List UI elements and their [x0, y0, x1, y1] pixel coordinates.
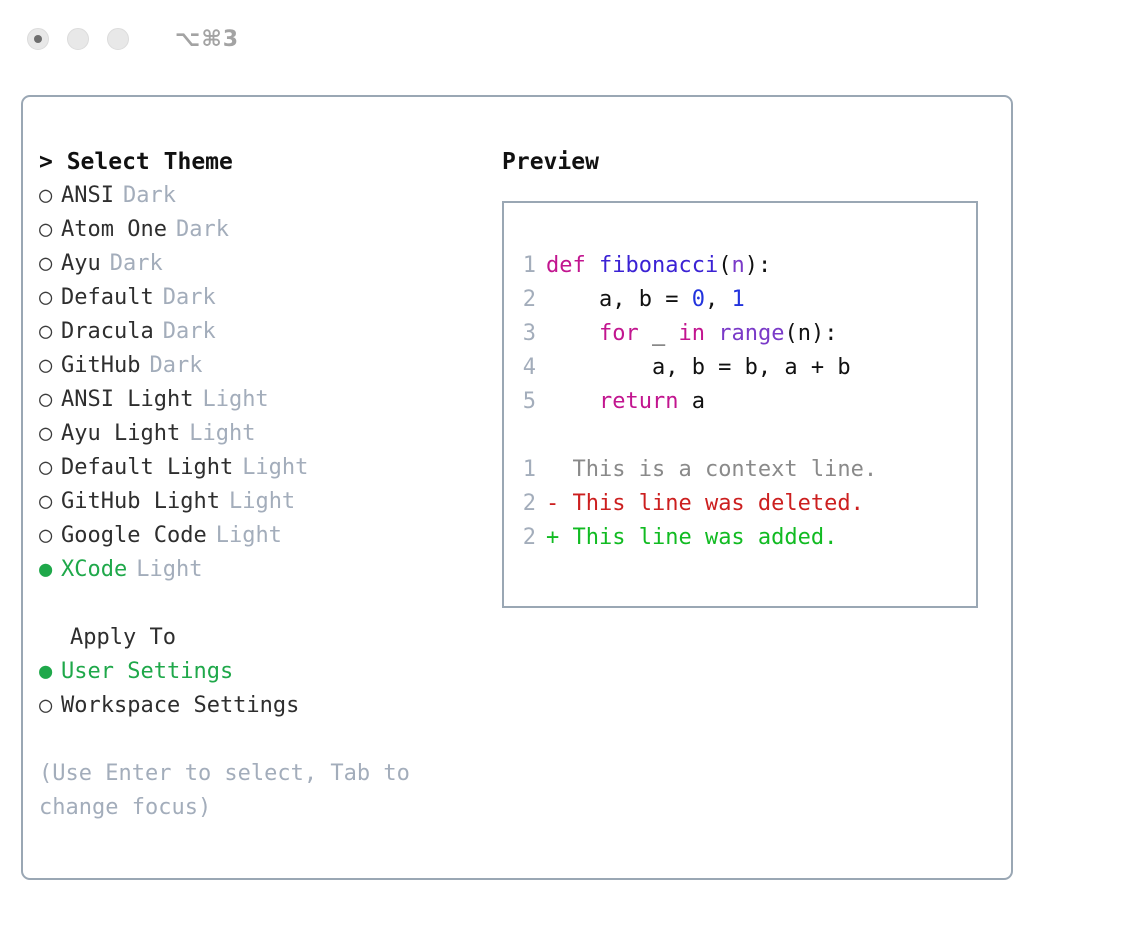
code-token: a, b =	[546, 287, 692, 312]
theme-name: Dracula	[61, 315, 154, 349]
apply-to-header: Apply To	[39, 621, 499, 655]
line-number: 1	[522, 453, 536, 487]
theme-name: GitHub Light	[61, 485, 220, 519]
code-token: a, b = b, a + b	[546, 355, 851, 380]
apply-to-options: ●User Settings○Workspace Settings	[39, 655, 499, 723]
code-line: 2 a, b = 0, 1	[522, 283, 877, 317]
code-token: (	[718, 253, 731, 278]
select-theme-header: > Select Theme	[39, 145, 499, 179]
theme-name: Ayu Light	[61, 417, 180, 451]
code-token: a	[678, 389, 705, 414]
theme-variant-label: Dark	[110, 247, 163, 281]
radio-unselected-icon: ○	[39, 689, 61, 723]
theme-list-item[interactable]: ○DefaultDark	[39, 281, 499, 315]
line-number: 1	[522, 249, 536, 283]
code-token: 1	[731, 287, 744, 312]
theme-name: Default	[61, 281, 154, 315]
theme-list-item[interactable]: ○Google CodeLight	[39, 519, 499, 553]
radio-unselected-icon: ○	[39, 485, 61, 519]
radio-unselected-icon: ○	[39, 349, 61, 383]
keyboard-hint-text: (Use Enter to select, Tab to change focu…	[39, 757, 459, 825]
code-diff-spacer	[522, 419, 877, 453]
theme-list-item[interactable]: ○Ayu LightLight	[39, 417, 499, 451]
radio-unselected-icon: ○	[39, 519, 61, 553]
diff-marker: +	[546, 525, 559, 550]
code-token: def	[546, 253, 586, 278]
theme-list-item[interactable]: ○Default LightLight	[39, 451, 499, 485]
radio-unselected-icon: ○	[39, 451, 61, 485]
apply-to-block: Apply To ●User Settings○Workspace Settin…	[39, 621, 499, 723]
radio-unselected-icon: ○	[39, 383, 61, 417]
theme-list-item[interactable]: ○DraculaDark	[39, 315, 499, 349]
recording-indicator-light[interactable]	[27, 28, 49, 50]
code-token: n	[731, 253, 744, 278]
theme-variant-label: Dark	[163, 281, 216, 315]
theme-variant-label: Dark	[123, 179, 176, 213]
code-token: (n):	[784, 321, 837, 346]
window-light-3[interactable]	[107, 28, 129, 50]
theme-list-item[interactable]: ●XCodeLight	[39, 553, 499, 587]
theme-list-item[interactable]: ○AyuDark	[39, 247, 499, 281]
code-line: 1def fibonacci(n):	[522, 249, 877, 283]
theme-variant-label: Light	[189, 417, 255, 451]
theme-name: XCode	[61, 553, 127, 587]
theme-variant-label: Dark	[163, 315, 216, 349]
theme-name: Google Code	[61, 519, 207, 553]
theme-variant-label: Light	[202, 383, 268, 417]
diff-line: 2- This line was deleted.	[522, 487, 877, 521]
radio-unselected-icon: ○	[39, 213, 61, 247]
theme-name: Default Light	[61, 451, 233, 485]
theme-variant-label: Light	[242, 451, 308, 485]
panel-columns: > Select Theme ○ANSIDark○Atom OneDark○Ay…	[23, 97, 1011, 878]
diff-line: 2+ This line was added.	[522, 521, 877, 555]
code-token: range	[718, 321, 784, 346]
theme-variant-label: Light	[229, 485, 295, 519]
line-number: 5	[522, 385, 536, 419]
diff-line: 1 This is a context line.	[522, 453, 877, 487]
theme-variant-label: Dark	[176, 213, 229, 247]
code-token: 0	[692, 287, 705, 312]
diff-marker	[546, 457, 559, 482]
theme-list-item[interactable]: ○ANSI LightLight	[39, 383, 499, 417]
radio-unselected-icon: ○	[39, 315, 61, 349]
code-token: ,	[705, 287, 732, 312]
radio-unselected-icon: ○	[39, 247, 61, 281]
diff-text: This line was added.	[559, 525, 837, 550]
code-token: ):	[745, 253, 772, 278]
code-line: 3 for _ in range(n):	[522, 317, 877, 351]
code-token	[546, 389, 599, 414]
window-titlebar: ⌥⌘3	[0, 0, 1140, 78]
line-number: 2	[522, 487, 536, 521]
preview-column: Preview 1def fibonacci(n):2 a, b = 0, 13…	[502, 145, 1002, 608]
code-token: in	[678, 321, 705, 346]
code-line: 5 return a	[522, 385, 877, 419]
theme-name: GitHub	[61, 349, 140, 383]
code-token: return	[599, 389, 678, 414]
code-line: 4 a, b = b, a + b	[522, 351, 877, 385]
diff-text: This is a context line.	[559, 457, 877, 482]
theme-variant-label: Light	[136, 553, 202, 587]
radio-selected-icon: ●	[39, 553, 61, 587]
line-number: 2	[522, 521, 536, 555]
line-number: 2	[522, 283, 536, 317]
theme-name: Atom One	[61, 213, 167, 247]
radio-unselected-icon: ○	[39, 417, 61, 451]
theme-name: Ayu	[61, 247, 101, 281]
theme-variant-label: Light	[216, 519, 282, 553]
preview-header: Preview	[502, 145, 1002, 179]
code-token	[546, 321, 599, 346]
theme-list-item[interactable]: ○ANSIDark	[39, 179, 499, 213]
apply-to-option[interactable]: ●User Settings	[39, 655, 499, 689]
line-number: 3	[522, 317, 536, 351]
traffic-lights	[27, 28, 129, 50]
theme-list-item[interactable]: ○Atom OneDark	[39, 213, 499, 247]
theme-name: ANSI	[61, 179, 114, 213]
diff-text: This line was deleted.	[559, 491, 864, 516]
apply-to-label: User Settings	[61, 655, 233, 689]
code-token: _	[639, 321, 679, 346]
line-number: 4	[522, 351, 536, 385]
diff-marker: -	[546, 491, 559, 516]
keyboard-shortcut-label: ⌥⌘3	[175, 27, 239, 52]
code-token	[586, 253, 599, 278]
radio-unselected-icon: ○	[39, 179, 61, 213]
theme-name: ANSI Light	[61, 383, 193, 417]
code-token: fibonacci	[599, 253, 718, 278]
apply-to-label: Workspace Settings	[61, 689, 299, 723]
theme-variant-label: Dark	[149, 349, 202, 383]
window-light-2[interactable]	[67, 28, 89, 50]
preview-box: 1def fibonacci(n):2 a, b = 0, 13 for _ i…	[502, 201, 978, 608]
apply-to-option[interactable]: ○Workspace Settings	[39, 689, 499, 723]
code-token: for	[599, 321, 639, 346]
theme-list-item[interactable]: ○GitHub LightLight	[39, 485, 499, 519]
code-token	[705, 321, 718, 346]
radio-selected-icon: ●	[39, 655, 61, 689]
theme-list: ○ANSIDark○Atom OneDark○AyuDark○DefaultDa…	[39, 179, 499, 587]
recording-dot-icon	[34, 35, 42, 43]
theme-picker-panel: > Select Theme ○ANSIDark○Atom OneDark○Ay…	[21, 95, 1013, 880]
theme-selection-column: > Select Theme ○ANSIDark○Atom OneDark○Ay…	[39, 145, 499, 825]
code-preview: 1def fibonacci(n):2 a, b = 0, 13 for _ i…	[522, 249, 877, 555]
theme-list-item[interactable]: ○GitHubDark	[39, 349, 499, 383]
radio-unselected-icon: ○	[39, 281, 61, 315]
